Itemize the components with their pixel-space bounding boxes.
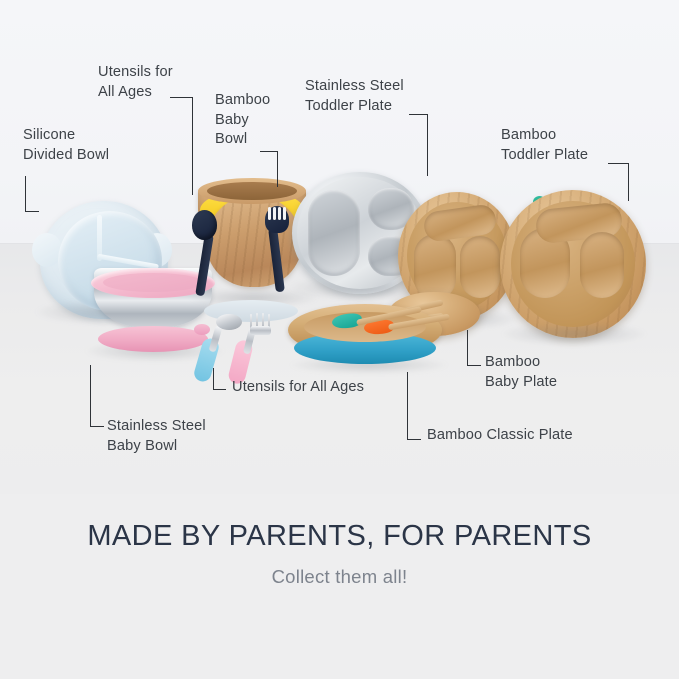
leader-segment-horizontal xyxy=(213,389,226,390)
label-utensils-all-ages-bottom: Utensils for All Ages xyxy=(232,378,364,398)
product-infographic: Silicone Divided Bowl Utensils for All A… xyxy=(0,0,679,679)
leader-segment-vertical xyxy=(277,151,278,187)
bowl-lid-inner xyxy=(103,273,203,292)
label-bamboo-baby-plate: Bamboo Baby Plate xyxy=(485,353,557,392)
leader-segment-horizontal xyxy=(25,211,39,212)
label-silicone-divided-bowl: Silicone Divided Bowl xyxy=(23,126,109,165)
label-bamboo-toddler-plate: Bamboo Toddler Plate xyxy=(501,126,588,165)
fork-base xyxy=(250,326,271,335)
bamboo-compartment-right xyxy=(460,236,500,298)
leader-segment-horizontal xyxy=(260,151,278,152)
navy-fork-head xyxy=(265,206,289,233)
bowl-suction-base-pink xyxy=(98,326,208,352)
suction-release-tab xyxy=(194,324,210,335)
bamboo-plate-body xyxy=(500,190,646,338)
leader-segment-horizontal xyxy=(467,365,481,366)
label-bamboo-baby-bowl: Bamboo Baby Bowl xyxy=(215,91,270,150)
page-headline: MADE BY PARENTS, FOR PARENTS xyxy=(0,520,679,553)
leader-segment-horizontal xyxy=(407,439,421,440)
bamboo-compartment-left xyxy=(414,234,456,300)
leader-segment-horizontal xyxy=(409,114,428,115)
leader-segment-vertical xyxy=(427,114,428,176)
label-stainless-steel-toddler-plate: Stainless Steel Toddler Plate xyxy=(305,77,404,116)
page-subline: Collect them all! xyxy=(0,566,679,588)
bamboo-bowl-lid xyxy=(206,195,302,287)
leader-segment-vertical xyxy=(90,365,91,427)
label-stainless-steel-baby-bowl: Stainless Steel Baby Bowl xyxy=(107,417,206,456)
leader-segment-vertical xyxy=(407,372,408,440)
leader-segment-horizontal xyxy=(608,163,629,164)
leader-segment-vertical xyxy=(467,330,468,366)
product-bamboo-classic-plate xyxy=(288,304,442,356)
bowl-interior xyxy=(207,182,297,200)
leader-segment-vertical xyxy=(213,368,214,390)
leader-segment-vertical xyxy=(628,163,629,201)
steel-compartment-left xyxy=(308,190,360,276)
leader-segment-horizontal xyxy=(170,97,193,98)
label-bamboo-classic-plate: Bamboo Classic Plate xyxy=(427,426,573,446)
navy-spoon-head xyxy=(192,210,217,240)
product-bamboo-toddler-plate-right xyxy=(500,190,646,338)
bamboo-compartment-right xyxy=(580,232,624,298)
leader-segment-vertical xyxy=(192,97,193,195)
leader-segment-vertical xyxy=(25,176,26,212)
label-utensils-all-ages-top: Utensils for All Ages xyxy=(98,63,173,102)
leader-segment-horizontal xyxy=(90,426,104,427)
divider-horizontal xyxy=(97,254,159,270)
utensil-spoon-bowl xyxy=(216,314,242,330)
bamboo-grain xyxy=(206,195,302,287)
